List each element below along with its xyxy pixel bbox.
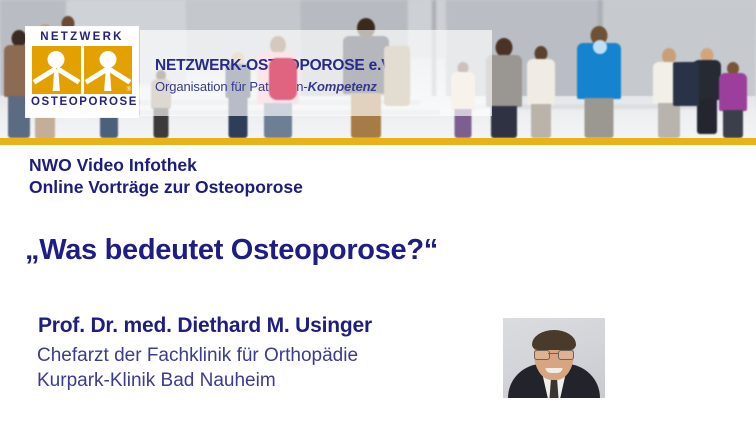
tote-bag (382, 46, 412, 108)
speaker-portrait (503, 318, 605, 398)
speaker-role-line-2: Kurpark-Klinik Bad Nauheim (37, 368, 358, 393)
portrait-glasses-left-lens (534, 350, 550, 360)
organization-subtitle: Organisation für Patienten-Kompetenz (155, 79, 377, 94)
logo-top-word: NETZWERK (31, 31, 133, 44)
kicker-line-2: Online Vorträge zur Osteoporose (29, 176, 303, 198)
portrait-smile (546, 368, 563, 373)
logo-tile-left (32, 46, 81, 94)
portrait-glasses-bridge (548, 353, 558, 354)
logo-bottom-word: OSTEOPOROSE (31, 95, 133, 109)
organization-subtitle-emphasis: Kompetenz (308, 79, 377, 94)
gold-divider-bar (0, 138, 756, 145)
figure-head-icon (99, 51, 116, 68)
crowd-person (718, 62, 748, 138)
backpack (268, 58, 298, 102)
netzwerk-osteoporose-logo: NETZWERK ® OSTEOPOROSE (26, 27, 138, 117)
kicker-line-1: NWO Video Infothek (29, 155, 197, 175)
figure-head-icon (48, 51, 65, 68)
registered-trademark-icon: ® (127, 87, 131, 93)
speaker-role: Chefarzt der Fachklinik für Orthopädie K… (37, 343, 358, 393)
shopping-bag (672, 62, 700, 108)
hood (592, 40, 608, 56)
logo-artwork: ® (32, 46, 132, 94)
presentation-slide: NETZWERK ® OSTEOPOROSE NETZWERK-OSTE (0, 0, 756, 425)
series-kicker: NWO Video Infothek Online Vorträge zur O… (29, 154, 303, 198)
page-title: „Was bedeutet Osteoporose?“ (25, 234, 438, 267)
portrait-glasses-right-lens (558, 350, 574, 360)
logo-tile-right: ® (84, 46, 133, 94)
speaker-name: Prof. Dr. med. Diethard M. Usinger (38, 314, 372, 338)
header-banner: NETZWERK ® OSTEOPOROSE NETZWERK-OSTE (0, 0, 756, 145)
speaker-role-line-1: Chefarzt der Fachklinik für Orthopädie (37, 345, 358, 366)
crowd-person (526, 46, 556, 138)
